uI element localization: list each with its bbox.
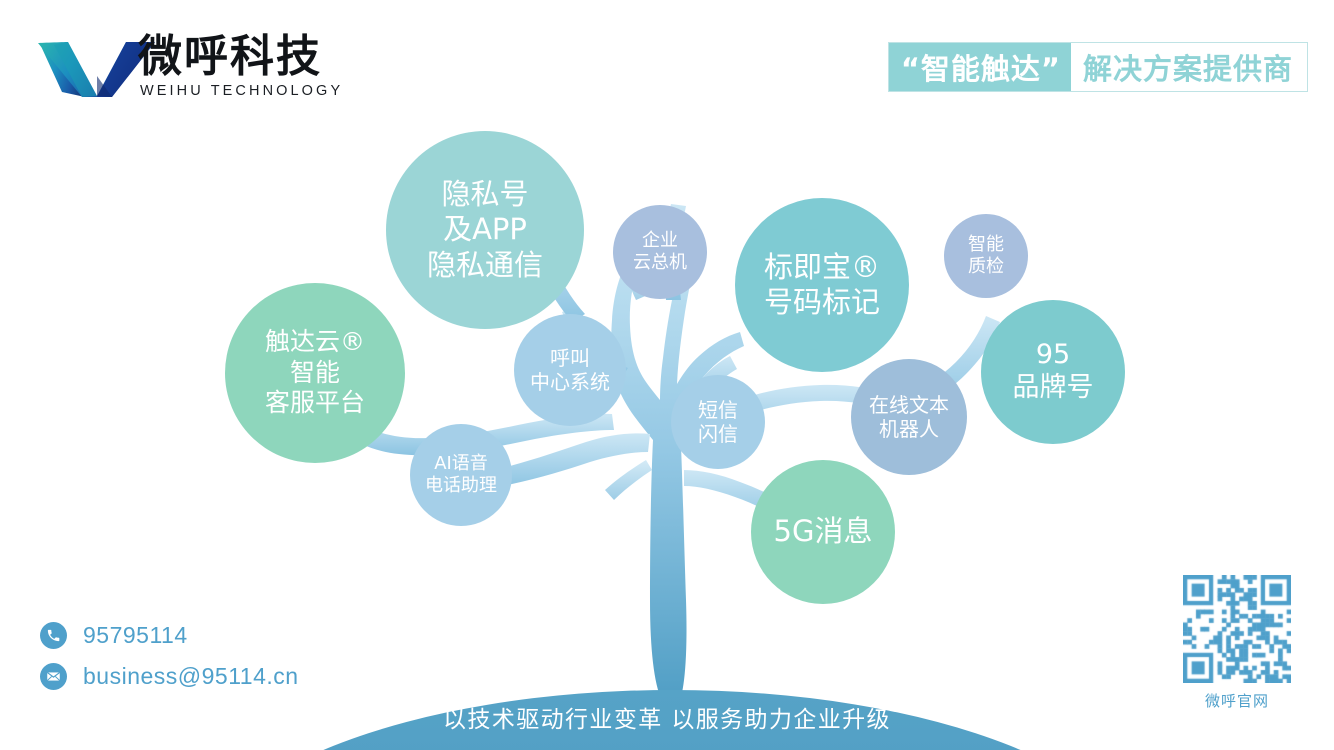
service-bubble-zaixian-wenben-jiqiren[interactable]: 在线文本 机器人 <box>851 359 967 475</box>
service-bubble-zhineng-zhijian[interactable]: 智能 质检 <box>944 214 1028 298</box>
header: 微呼科技 WEIHU TECHNOLOGY “智能触达” 解决方案提供商 <box>0 0 1334 115</box>
contact-phone-text: 95795114 <box>83 622 188 649</box>
tagline-rest-text: 解决方案提供商 <box>1071 43 1307 91</box>
service-bubble-yinsihao[interactable]: 隐私号 及APP 隐私通信 <box>386 131 584 329</box>
service-bubble-biaojibao[interactable]: 标即宝® 号码标记 <box>735 198 909 372</box>
ground-slogan: 以技术驱动行业变革 以服务助力企业升级 <box>0 700 1334 734</box>
brand-name-en: WEIHU TECHNOLOGY <box>138 83 343 99</box>
service-bubble-huajiao-zhongxin[interactable]: 呼叫 中心系统 <box>514 314 626 426</box>
service-bubble-95-pinpaihao[interactable]: 95 品牌号 <box>981 300 1125 444</box>
envelope-icon <box>40 663 67 690</box>
service-bubble-ai-yuyin[interactable]: AI语音 电话助理 <box>410 424 512 526</box>
phone-icon <box>40 622 67 649</box>
service-bubble-chudayun[interactable]: 触达云® 智能 客服平台 <box>225 283 405 463</box>
service-bubble-5g-xiaoxi[interactable]: 5G消息 <box>751 460 895 604</box>
brand-name-cn: 微呼科技 <box>138 33 343 81</box>
service-bubble-qiye-yunzongji[interactable]: 企业 云总机 <box>613 205 707 299</box>
brand-logo: 微呼科技 WEIHU TECHNOLOGY <box>138 33 343 99</box>
contact-email-text: business@95114.cn <box>83 663 299 690</box>
tagline-banner: “智能触达” 解决方案提供商 <box>888 42 1308 92</box>
tagline-accent-text: “智能触达” <box>889 43 1071 91</box>
qr-code-icon <box>1183 575 1291 683</box>
contact-block: 95795114 business@95114.cn <box>40 622 299 704</box>
contact-email-row[interactable]: business@95114.cn <box>40 663 299 690</box>
qr-block[interactable]: 微呼官网 <box>1183 575 1291 711</box>
poster-root: 微呼科技 WEIHU TECHNOLOGY “智能触达” 解决方案提供商 触达云… <box>0 0 1334 750</box>
contact-phone-row[interactable]: 95795114 <box>40 622 299 649</box>
service-bubble-duanxin-shanxin[interactable]: 短信 闪信 <box>671 375 765 469</box>
